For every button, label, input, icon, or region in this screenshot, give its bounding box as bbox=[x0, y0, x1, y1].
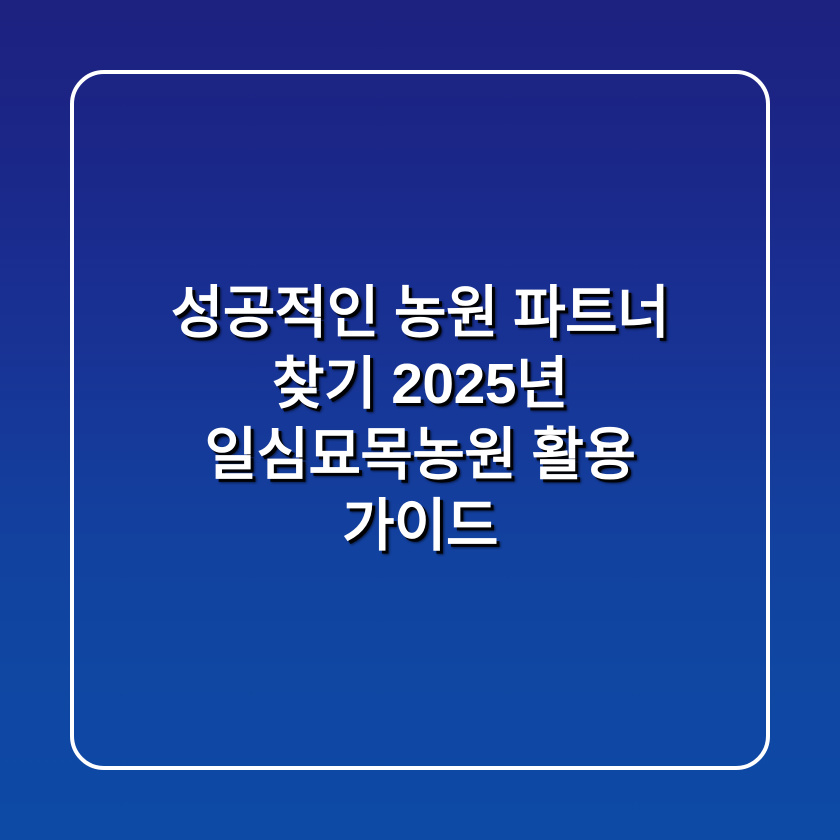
title-line-4: 가이드 bbox=[78, 491, 762, 562]
title-line-1: 성공적인 농원 파트너 bbox=[78, 278, 762, 349]
title-line-3: 일심묘목농원 활용 bbox=[78, 420, 762, 491]
title-block: 성공적인 농원 파트너 찾기 2025년 일심묘목농원 활용 가이드 bbox=[0, 0, 840, 840]
thumbnail-card: 성공적인 농원 파트너 찾기 2025년 일심묘목농원 활용 가이드 bbox=[0, 0, 840, 840]
title-line-2: 찾기 2025년 bbox=[78, 349, 762, 420]
